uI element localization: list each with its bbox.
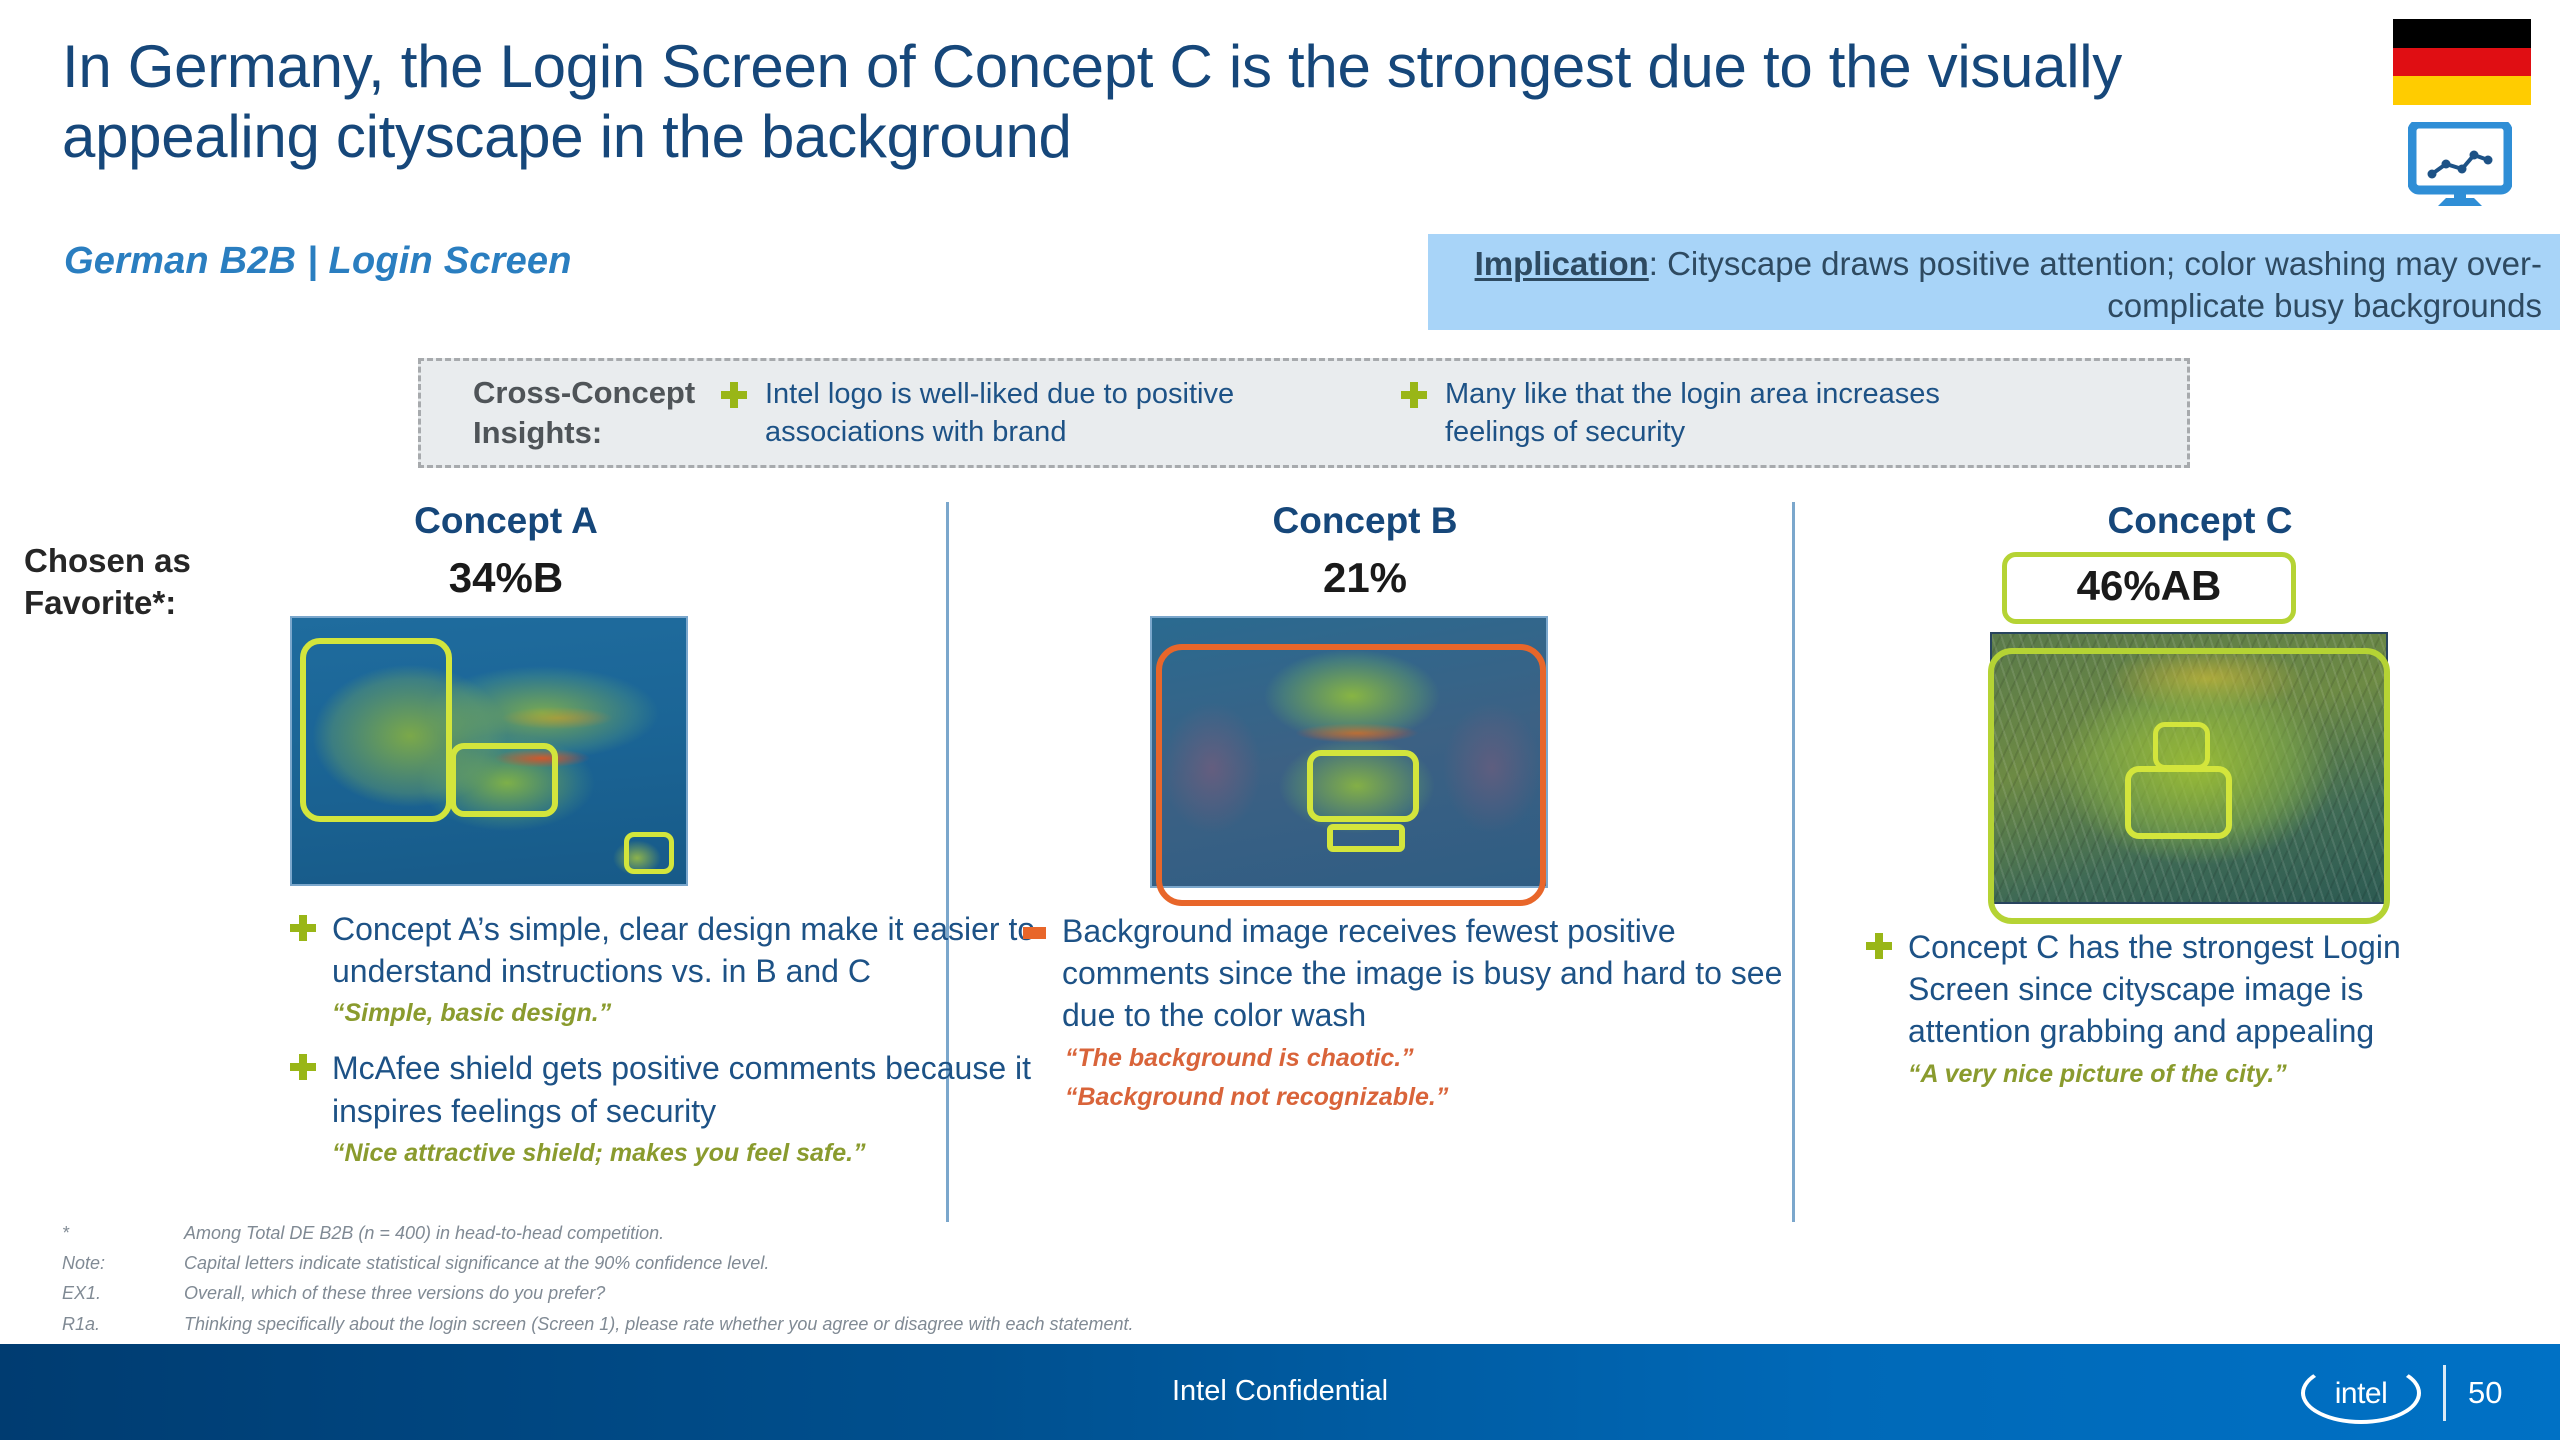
page-number: 50 — [2468, 1375, 2514, 1411]
verbatim-quote: “Simple, basic design.” — [332, 996, 1130, 1031]
minus-icon — [1023, 927, 1046, 939]
verbatim-quote: “Background not recognizable.” — [1065, 1080, 1783, 1115]
aoi-login-panel-box — [300, 638, 452, 822]
footnote-row: R1a. Thinking specifically about the log… — [62, 1309, 1134, 1339]
insight-item: Many like that the login area increases … — [1401, 375, 2041, 452]
footer-divider — [2443, 1365, 2446, 1421]
concept-b-heatmap-thumbnail[interactable] — [1150, 616, 1548, 888]
bullet-text: Background image receives fewest positiv… — [1062, 910, 1783, 1037]
footnote-key: R1a. — [62, 1309, 184, 1339]
german-flag-icon — [2393, 19, 2531, 105]
footnote-key: EX1. — [62, 1278, 184, 1308]
insight-item: Intel logo is well-liked due to positive… — [721, 375, 1401, 452]
intel-logo: intel — [2301, 1362, 2421, 1424]
bullet-text: McAfee shield gets positive comments bec… — [332, 1047, 1130, 1131]
insight-text: Many like that the login area increases … — [1445, 375, 2041, 452]
footnote-text: Among Total DE B2B (n = 400) in head-to-… — [184, 1218, 664, 1248]
concept-favorite-percent: 21% — [1165, 554, 1565, 602]
aoi-login-button-box — [1327, 824, 1405, 852]
concept-b-bullets: Background image receives fewest positiv… — [1023, 910, 1783, 1115]
concept-c-bullets: Concept C has the strongest Login Screen… — [1866, 926, 2466, 1092]
insights-label: Cross-Concept Insights: — [421, 373, 721, 454]
aoi-lock-body-box — [2125, 766, 2232, 839]
implication-label: Implication — [1475, 245, 1649, 282]
verbatim-quote: “A very nice picture of the city.” — [1908, 1057, 2466, 1092]
footnote-text: Overall, which of these three versions d… — [184, 1278, 605, 1308]
bullet-row: Background image receives fewest positiv… — [1023, 910, 1783, 1037]
aoi-lock-shackle-box — [2153, 722, 2210, 770]
insight-text: Intel logo is well-liked due to positive… — [765, 375, 1401, 452]
footnote-row: * Among Total DE B2B (n = 400) in head-t… — [62, 1218, 1134, 1248]
concept-column-b: Concept B 21% Background image receives … — [1020, 500, 1740, 1131]
bullet-row: Concept A’s simple, clear design make it… — [290, 908, 1130, 992]
concept-a-bullets: Concept A’s simple, clear design make it… — [290, 908, 1130, 1171]
bullet-row: McAfee shield gets positive comments bec… — [290, 1047, 1130, 1131]
concept-c-heatmap-thumbnail[interactable] — [1990, 632, 2388, 904]
footnote-key: * — [62, 1218, 184, 1248]
page-subtitle: German B2B | Login Screen — [64, 240, 572, 283]
footer-bar: Intel Confidential intel 50 — [0, 1344, 2560, 1440]
bullet-text: Concept C has the strongest Login Screen… — [1908, 926, 2466, 1053]
implication-text: : Cityscape draws positive attention; co… — [1649, 245, 2542, 324]
plus-icon — [290, 1054, 316, 1080]
concept-column-c: Concept C 46%AB Concept C has the strong… — [1860, 500, 2560, 1108]
concept-title: Concept A — [306, 500, 706, 542]
aoi-login-field-box — [450, 743, 558, 817]
footnote-text: Capital letters indicate statistical sig… — [184, 1248, 769, 1278]
confidentiality-notice: Intel Confidential — [0, 1375, 2560, 1408]
footnote-key: Note: — [62, 1248, 184, 1278]
page-title: In Germany, the Login Screen of Concept … — [62, 32, 2352, 171]
footnote-row: EX1. Overall, which of these three versi… — [62, 1278, 1134, 1308]
concept-column-a: Concept A 34%B Concept A’s simple, clear… — [290, 500, 930, 1187]
plus-icon — [1401, 382, 1427, 408]
column-divider — [1792, 502, 1795, 1222]
concept-favorite-percent: 46%AB — [2007, 557, 2291, 619]
bullet-row: Concept C has the strongest Login Screen… — [1866, 926, 2466, 1053]
concept-a-heatmap-thumbnail[interactable] — [290, 616, 688, 886]
aoi-login-field-box — [1307, 750, 1419, 822]
verbatim-quote: “The background is chaotic.” — [1065, 1041, 1783, 1076]
chosen-as-favorite-label: Chosen asFavorite*: — [24, 540, 191, 624]
implication-callout: Implication: Cityscape draws positive at… — [1428, 234, 2560, 330]
verbatim-quote: “Nice attractive shield; makes you feel … — [332, 1136, 1130, 1171]
plus-icon — [721, 382, 747, 408]
footnote-row: Note: Capital letters indicate statistic… — [62, 1248, 1134, 1278]
intel-logo-word: intel — [2301, 1377, 2421, 1411]
cross-concept-insights: Cross-Concept Insights: Intel logo is we… — [418, 358, 2190, 468]
plus-icon — [290, 915, 316, 941]
footnotes: * Among Total DE B2B (n = 400) in head-t… — [62, 1218, 1134, 1339]
footer-right-group: intel 50 — [2301, 1362, 2514, 1424]
concept-title: Concept C — [2000, 500, 2400, 542]
monitor-chart-icon — [2408, 122, 2512, 208]
aoi-intel-logo-box — [624, 832, 674, 874]
concept-title: Concept B — [1165, 500, 1565, 542]
footnote-text: Thinking specifically about the login sc… — [184, 1309, 1134, 1339]
concept-favorite-percent: 34%B — [306, 554, 706, 602]
plus-icon — [1866, 933, 1892, 959]
winner-highlight-frame: 46%AB — [2002, 552, 2296, 624]
bullet-text: Concept A’s simple, clear design make it… — [332, 908, 1130, 992]
